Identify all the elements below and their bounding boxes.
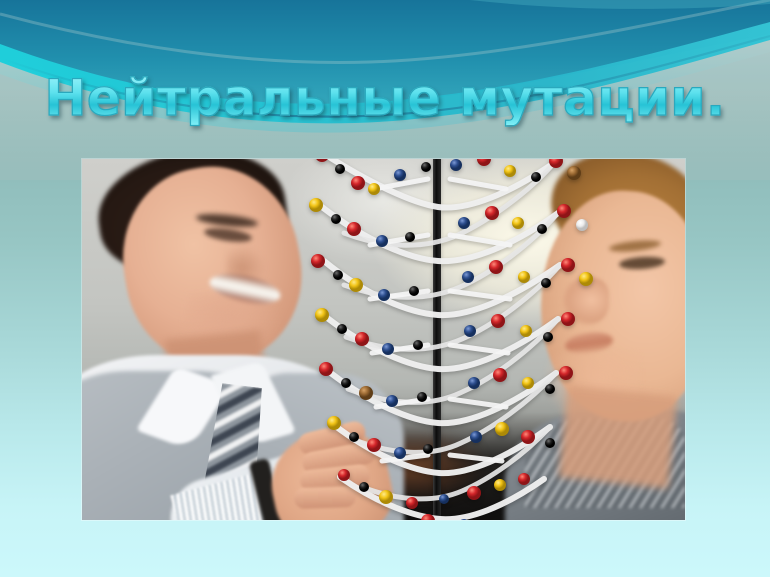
slide-photo [82,159,685,520]
dna-double-helix-model [278,159,608,520]
page-title: Нейтральные мутации. [0,72,770,125]
presentation-slide: Нейтральные мутации. [0,0,770,577]
title-text: Нейтральные мутации. [45,72,726,125]
